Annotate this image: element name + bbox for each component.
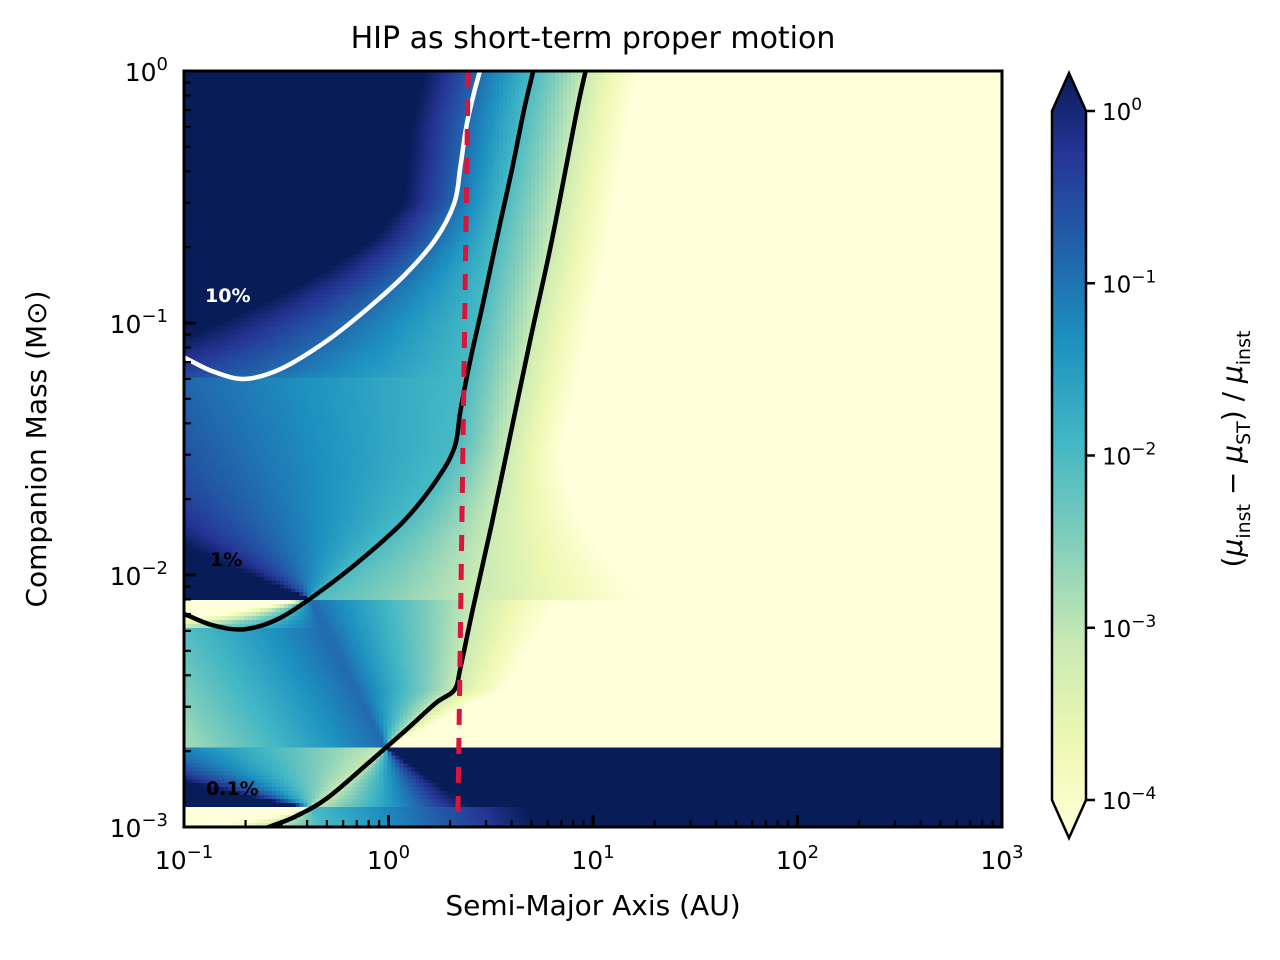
heatmap-field	[184, 71, 1003, 828]
colorbar-gradient[interactable]	[1052, 73, 1086, 838]
chart-title: HIP as short-term proper motion	[351, 21, 836, 56]
chart-svg: HIP as short-term proper motion 10%1%0.1…	[0, 0, 1280, 960]
contour-label-0p1pct: 0.1%	[206, 778, 259, 800]
y-axis-label: Companion Mass (M⊙)	[20, 290, 53, 607]
contour-label-10pct: 10%	[205, 285, 250, 307]
figure-canvas: HIP as short-term proper motion 10%1%0.1…	[0, 0, 1280, 960]
contour-label-1pct: 1%	[210, 549, 242, 571]
x-axis-label: Semi-Major Axis (AU)	[445, 889, 740, 922]
